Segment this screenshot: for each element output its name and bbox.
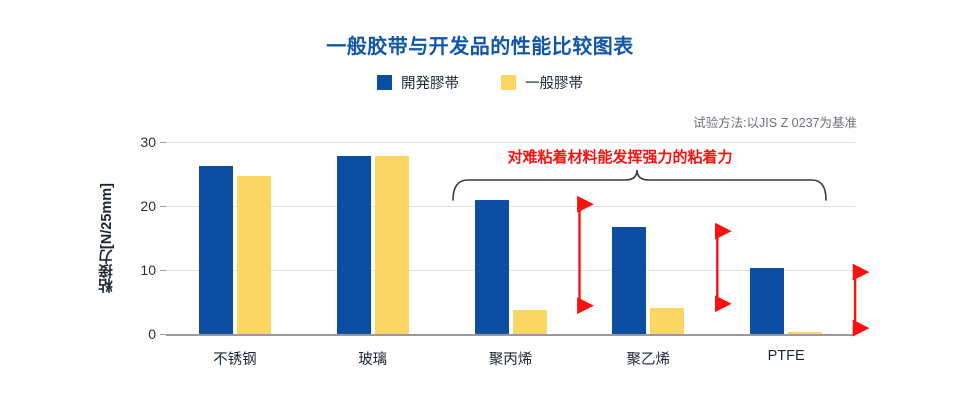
legend-item-general: 一般膠帯 [501, 72, 583, 93]
x-axis-line [166, 334, 855, 336]
y-axis-tick-mark [160, 334, 166, 335]
bar-general-4 [788, 332, 822, 334]
gridline [166, 142, 855, 143]
x-axis-label-3: 聚乙烯 [627, 348, 671, 369]
y-axis-tick-label: 20 [140, 198, 156, 214]
y-axis-tick-mark [160, 206, 166, 207]
test-method-note: 试验方法:以JIS Z 0237为基准 [693, 112, 857, 131]
bar-developed-1 [337, 156, 371, 334]
y-axis-tick-mark [160, 270, 166, 271]
y-axis-title-text: 粘接力[N/25mm] [96, 183, 117, 293]
y-axis-tick-mark [160, 142, 166, 143]
y-axis-tick-label: 10 [140, 262, 156, 278]
legend-label-general: 一般膠帯 [525, 72, 583, 93]
bar-general-1 [375, 156, 409, 334]
bar-general-3 [650, 308, 684, 334]
legend-swatch-general [501, 75, 516, 90]
x-axis-label-2: 聚丙烯 [489, 348, 533, 369]
chart-legend: 開発膠帯 一般膠帯 [0, 72, 960, 93]
x-axis-label-4: PTFE [768, 348, 805, 364]
legend-item-developed: 開発膠帯 [377, 72, 459, 93]
legend-swatch-developed [377, 75, 392, 90]
bar-developed-0 [199, 166, 233, 334]
y-axis-tick-label: 0 [148, 326, 156, 342]
x-axis-label-0: 不锈钢 [213, 348, 257, 369]
bar-general-0 [237, 176, 271, 334]
x-axis-label-1: 玻璃 [358, 348, 387, 369]
bar-developed-4 [750, 268, 784, 334]
y-axis-tick-label: 30 [140, 134, 156, 150]
bar-general-2 [513, 310, 547, 334]
bar-developed-2 [475, 200, 509, 334]
y-axis-title: 粘接力[N/25mm] [96, 142, 117, 334]
chart-container: 一般胶带与开发品的性能比较图表 開発膠帯 一般膠帯 试验方法:以JIS Z 02… [0, 0, 960, 400]
legend-label-developed: 開発膠帯 [401, 72, 459, 93]
bar-developed-3 [612, 227, 646, 334]
plot-area: 0102030不锈钢玻璃聚丙烯聚乙烯PTFE [166, 142, 855, 334]
chart-title: 一般胶带与开发品的性能比较图表 [0, 30, 960, 59]
